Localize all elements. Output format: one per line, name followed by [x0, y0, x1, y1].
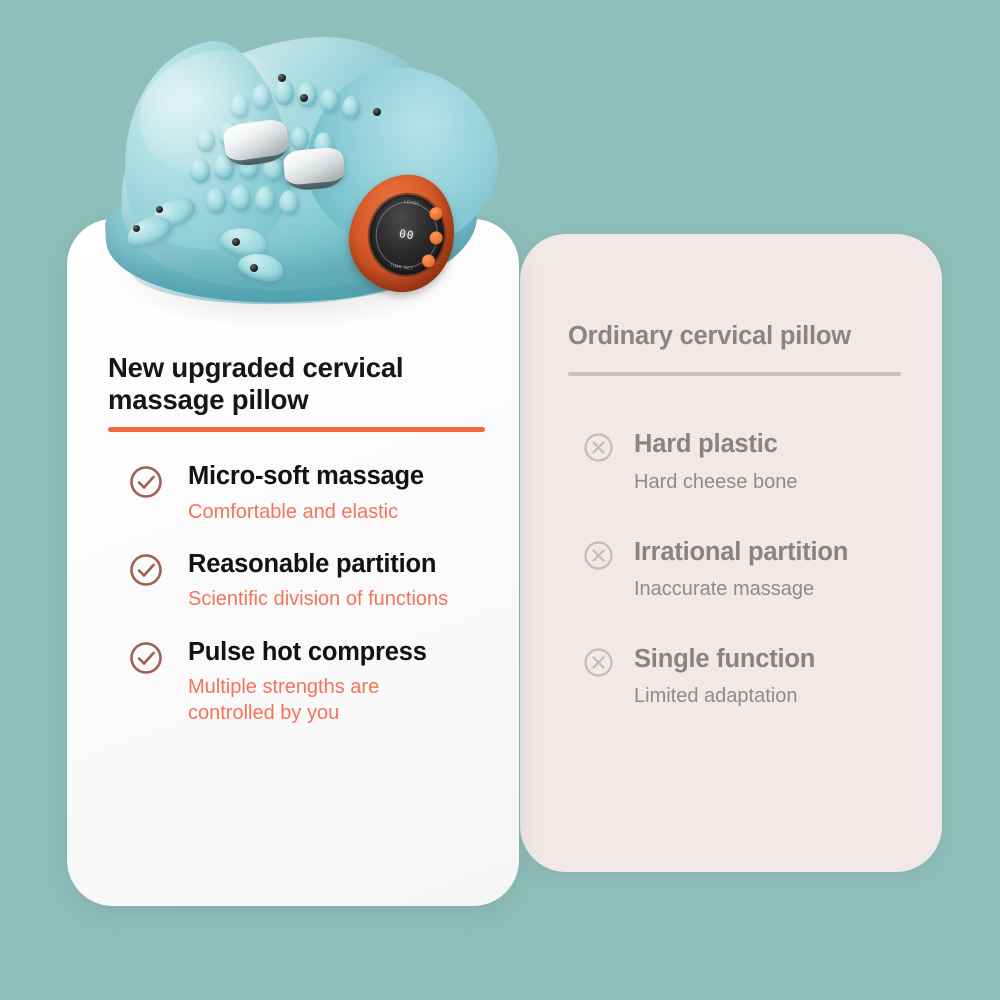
- upgraded-feature-list: Micro-soft massage Comfortable and elast…: [108, 462, 508, 726]
- massage-nub: [206, 188, 226, 213]
- drawback-title: Single function: [634, 645, 948, 674]
- massage-nub: [342, 96, 360, 119]
- acupressure-dot: [232, 238, 240, 246]
- feature-item: Pulse hot compress Multiple strengths ar…: [108, 638, 508, 726]
- feature-subtitle: Scientific division of functions: [188, 586, 508, 612]
- product-image-cervical-massage-pillow: LEVEL 00 TIME SET: [78, 22, 508, 322]
- feature-item: Reasonable partition Scientific division…: [108, 550, 508, 612]
- massage-nub: [190, 158, 210, 183]
- feature-title: Reasonable partition: [188, 550, 508, 579]
- massage-nub: [320, 88, 339, 112]
- feature-subtitle: Multiple strengths are controlled by you: [188, 674, 508, 726]
- drawback-item: Irrational partition Inaccurate massage: [568, 538, 948, 602]
- check-circle-icon: [128, 464, 164, 500]
- massage-nub: [255, 186, 275, 212]
- check-circle-icon: [128, 640, 164, 676]
- electrode-plate-right: [283, 146, 346, 185]
- massage-nub: [252, 84, 271, 109]
- upgraded-card-title: New upgraded cervical massage pillow: [108, 352, 508, 416]
- acupressure-dot: [133, 225, 140, 232]
- massage-nub: [230, 185, 251, 211]
- check-circle-icon: [128, 552, 164, 588]
- feature-subtitle: Comfortable and elastic: [188, 499, 508, 525]
- massage-nub: [230, 94, 249, 118]
- acupressure-dot: [156, 206, 163, 213]
- massage-nub: [279, 190, 299, 215]
- x-circle-icon: [582, 539, 615, 572]
- x-circle-icon: [582, 431, 615, 464]
- title-underline-accent: [108, 427, 485, 432]
- drawback-subtitle: Hard cheese bone: [634, 469, 948, 495]
- drawback-item: Single function Limited adaptation: [568, 645, 948, 709]
- massage-nub: [290, 126, 309, 150]
- drawback-subtitle: Inaccurate massage: [634, 576, 948, 602]
- feature-item: Micro-soft massage Comfortable and elast…: [108, 462, 508, 524]
- ordinary-pillow-content: Ordinary cervical pillow Hard plastic Ha…: [568, 322, 948, 709]
- ordinary-card-title: Ordinary cervical pillow: [568, 322, 948, 351]
- acupressure-dot: [373, 108, 381, 116]
- upgraded-pillow-content: New upgraded cervical massage pillow Mic…: [108, 352, 508, 726]
- ordinary-feature-list: Hard plastic Hard cheese bone Irrational…: [568, 430, 948, 709]
- drawback-title: Hard plastic: [634, 430, 948, 459]
- acupressure-dot: [278, 74, 286, 82]
- massage-nub: [274, 80, 294, 105]
- x-circle-icon: [582, 646, 615, 679]
- acupressure-dot: [250, 264, 258, 272]
- drawback-subtitle: Limited adaptation: [634, 683, 948, 709]
- acupressure-dot: [300, 94, 308, 102]
- feature-title: Pulse hot compress: [188, 638, 508, 667]
- massage-nub: [196, 128, 215, 152]
- comparison-infographic: LEVEL 00 TIME SET New upgraded cervical …: [0, 0, 1000, 1000]
- feature-title: Micro-soft massage: [188, 462, 508, 491]
- title-divider: [568, 372, 901, 376]
- display-readout: 00: [398, 228, 415, 241]
- drawback-item: Hard plastic Hard cheese bone: [568, 430, 948, 494]
- drawback-title: Irrational partition: [634, 538, 948, 567]
